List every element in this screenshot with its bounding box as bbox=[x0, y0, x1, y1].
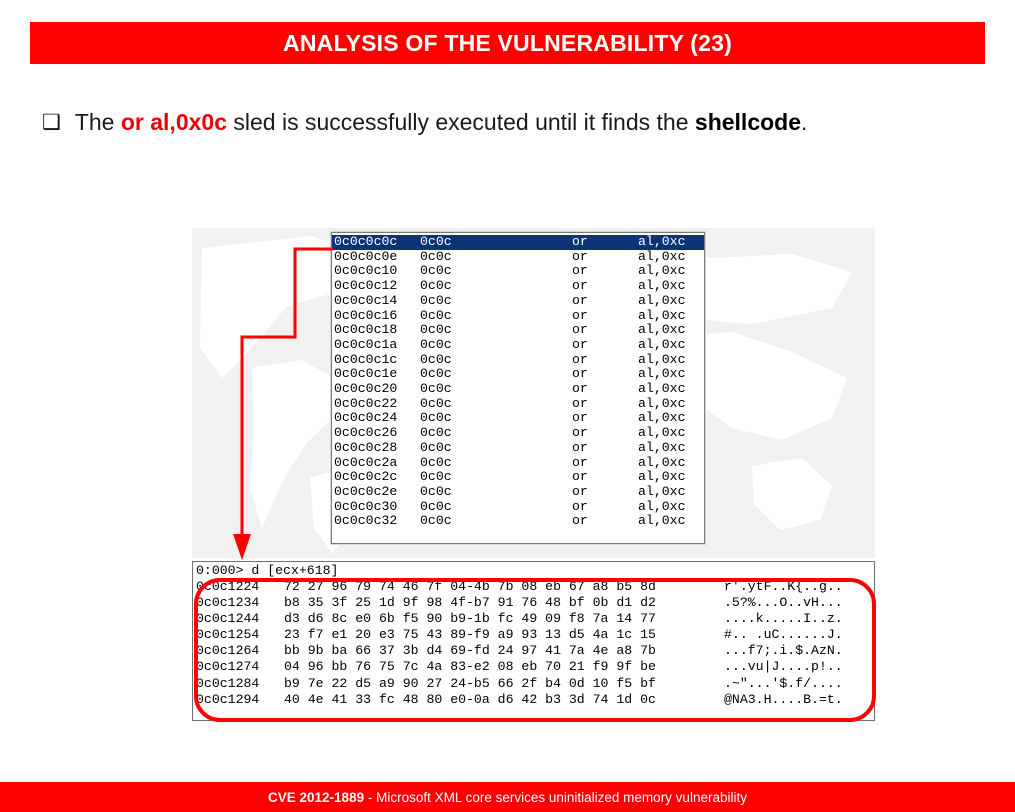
disassembly-mnemonic: or bbox=[572, 470, 638, 485]
disassembly-bytes: 0c0c bbox=[420, 485, 572, 500]
square-bullet-icon: ❑ bbox=[42, 112, 61, 133]
memory-dump-ascii: .~"...'$.f/.... bbox=[724, 676, 874, 692]
disassembly-row[interactable]: 0c0c0c120c0coral,0xc bbox=[332, 279, 704, 294]
disassembly-operands: al,0xc bbox=[638, 323, 700, 338]
disassembly-mnemonic: or bbox=[572, 514, 638, 529]
disassembly-operands: al,0xc bbox=[638, 353, 700, 368]
disassembly-mnemonic: or bbox=[572, 456, 638, 471]
disassembly-bytes: 0c0c bbox=[420, 323, 572, 338]
disassembly-bytes: 0c0c bbox=[420, 397, 572, 412]
memory-dump-bytes: 23 f7 e1 20 e3 75 43 89-f9 a9 93 13 d5 4… bbox=[284, 627, 724, 643]
disassembly-mnemonic: or bbox=[572, 323, 638, 338]
disassembly-operands: al,0xc bbox=[638, 250, 700, 265]
disassembly-row[interactable]: 0c0c0c140c0coral,0xc bbox=[332, 294, 704, 309]
memory-dump-ascii: ...f7;.i.$.AzN. bbox=[724, 643, 874, 659]
memory-dump-ascii: r'.ytF..K{..g.. bbox=[724, 579, 874, 595]
disassembly-bytes: 0c0c bbox=[420, 264, 572, 279]
memory-dump-bytes: d3 d6 8c e0 6b f5 90 b9-1b fc 49 09 f8 7… bbox=[284, 611, 724, 627]
disassembly-address: 0c0c0c10 bbox=[334, 264, 420, 279]
bullet-row: ❑ The or al,0x0c sled is successfully ex… bbox=[42, 108, 972, 137]
disassembly-operands: al,0xc bbox=[638, 367, 700, 382]
footer-cve-id: CVE 2012-1889 bbox=[268, 790, 364, 805]
disassembly-bytes: 0c0c bbox=[420, 411, 572, 426]
memory-dump-address: 0c0c1284 bbox=[196, 676, 284, 692]
memory-dump-bytes: 04 96 bb 76 75 7c 4a 83-e2 08 eb 70 21 f… bbox=[284, 659, 724, 675]
disassembly-mnemonic: or bbox=[572, 367, 638, 382]
bullet-text-before: The bbox=[75, 109, 121, 135]
footer-text: CVE 2012-1889 - Microsoft XML core servi… bbox=[268, 790, 747, 805]
disassembly-bytes: 0c0c bbox=[420, 456, 572, 471]
disassembly-operands: al,0xc bbox=[638, 279, 700, 294]
disassembly-address: 0c0c0c16 bbox=[334, 309, 420, 324]
disassembly-bytes: 0c0c bbox=[420, 235, 572, 250]
disassembly-mnemonic: or bbox=[572, 250, 638, 265]
memory-dump-ascii: ....k.....I..z. bbox=[724, 611, 874, 627]
memory-dump-row: 0c0c1234b8 35 3f 25 1d 9f 98 4f-b7 91 76… bbox=[196, 595, 874, 611]
memory-dump-address: 0c0c1234 bbox=[196, 595, 284, 611]
bullet-text-middle: sled is successfully executed until it f… bbox=[227, 109, 695, 135]
memory-dump-address: 0c0c1244 bbox=[196, 611, 284, 627]
disassembly-operands: al,0xc bbox=[638, 441, 700, 456]
disassembly-mnemonic: or bbox=[572, 426, 638, 441]
disassembly-address: 0c0c0c22 bbox=[334, 397, 420, 412]
disassembly-mnemonic: or bbox=[572, 338, 638, 353]
memory-dump-row: 0c0c1264bb 9b ba 66 37 3b d4 69-fd 24 97… bbox=[196, 643, 874, 659]
memory-dump-bytes: 40 4e 41 33 fc 48 80 e0-0a d6 42 b3 3d 7… bbox=[284, 692, 724, 708]
disassembly-mnemonic: or bbox=[572, 411, 638, 426]
memory-dump-window[interactable]: 0:000> d [ecx+618] 0c0c122472 27 96 79 7… bbox=[192, 561, 875, 721]
disassembly-operands: al,0xc bbox=[638, 309, 700, 324]
disassembly-row[interactable]: 0c0c0c2a0c0coral,0xc bbox=[332, 456, 704, 471]
memory-dump-ascii: #.. .uC......J. bbox=[724, 627, 874, 643]
disassembly-bytes: 0c0c bbox=[420, 441, 572, 456]
disassembly-address: 0c0c0c2c bbox=[334, 470, 420, 485]
disassembly-bytes: 0c0c bbox=[420, 294, 572, 309]
disassembly-bytes: 0c0c bbox=[420, 353, 572, 368]
disassembly-bytes: 0c0c bbox=[420, 500, 572, 515]
disassembly-operands: al,0xc bbox=[638, 294, 700, 309]
disassembly-row[interactable]: 0c0c0c180c0coral,0xc bbox=[332, 323, 704, 338]
slide-title-banner: ANALYSIS OF THE VULNERABILITY (23) bbox=[30, 22, 985, 64]
memory-dump-address: 0c0c1264 bbox=[196, 643, 284, 659]
debugger-command-line[interactable]: 0:000> d [ecx+618] bbox=[196, 563, 874, 579]
disassembly-row[interactable]: 0c0c0c100c0coral,0xc bbox=[332, 264, 704, 279]
disassembly-row[interactable]: 0c0c0c300c0coral,0xc bbox=[332, 500, 704, 515]
disassembly-address: 0c0c0c1c bbox=[334, 353, 420, 368]
disassembly-address: 0c0c0c12 bbox=[334, 279, 420, 294]
memory-dump-address: 0c0c1294 bbox=[196, 692, 284, 708]
memory-dump-bytes: b8 35 3f 25 1d 9f 98 4f-b7 91 76 48 bf 0… bbox=[284, 595, 724, 611]
disassembly-bytes: 0c0c bbox=[420, 367, 572, 382]
disassembly-bytes: 0c0c bbox=[420, 279, 572, 294]
disassembly-row[interactable]: 0c0c0c160c0coral,0xc bbox=[332, 309, 704, 324]
disassembly-row[interactable]: 0c0c0c320c0coral,0xc bbox=[332, 514, 704, 529]
disassembly-row[interactable]: 0c0c0c2c0c0coral,0xc bbox=[332, 470, 704, 485]
disassembly-operands: al,0xc bbox=[638, 338, 700, 353]
disassembly-row[interactable]: 0c0c0c0e0c0coral,0xc bbox=[332, 250, 704, 265]
disassembly-operands: al,0xc bbox=[638, 485, 700, 500]
disassembly-mnemonic: or bbox=[572, 441, 638, 456]
disassembly-address: 0c0c0c2a bbox=[334, 456, 420, 471]
disassembly-address: 0c0c0c26 bbox=[334, 426, 420, 441]
memory-dump-ascii: @NA3.H....B.=t. bbox=[724, 692, 874, 708]
disassembly-address: 0c0c0c1a bbox=[334, 338, 420, 353]
footer-description: Microsoft XML core services uninitialize… bbox=[376, 790, 747, 805]
disassembly-row[interactable]: 0c0c0c200c0coral,0xc bbox=[332, 382, 704, 397]
disassembly-address: 0c0c0c30 bbox=[334, 500, 420, 515]
slide-footer-banner: CVE 2012-1889 - Microsoft XML core servi… bbox=[0, 782, 1015, 812]
disassembly-address: 0c0c0c32 bbox=[334, 514, 420, 529]
disassembly-mnemonic: or bbox=[572, 353, 638, 368]
memory-dump-row: 0c0c129440 4e 41 33 fc 48 80 e0-0a d6 42… bbox=[196, 692, 874, 708]
disassembly-row[interactable]: 0c0c0c1e0c0coral,0xc bbox=[332, 367, 704, 382]
disassembly-operands: al,0xc bbox=[638, 397, 700, 412]
disassembly-row[interactable]: 0c0c0c2e0c0coral,0xc bbox=[332, 485, 704, 500]
disassembly-bytes: 0c0c bbox=[420, 514, 572, 529]
memory-dump-row: 0c0c125423 f7 e1 20 e3 75 43 89-f9 a9 93… bbox=[196, 627, 874, 643]
disassembly-operands: al,0xc bbox=[638, 456, 700, 471]
disassembly-address: 0c0c0c24 bbox=[334, 411, 420, 426]
disassembly-row[interactable]: 0c0c0c1c0c0coral,0xc bbox=[332, 353, 704, 368]
disassembly-mnemonic: or bbox=[572, 382, 638, 397]
disassembly-address: 0c0c0c1e bbox=[334, 367, 420, 382]
disassembly-mnemonic: or bbox=[572, 500, 638, 515]
disassembly-mnemonic: or bbox=[572, 485, 638, 500]
memory-dump-address: 0c0c1224 bbox=[196, 579, 284, 595]
memory-dump-address: 0c0c1274 bbox=[196, 659, 284, 675]
disassembly-operands: al,0xc bbox=[638, 514, 700, 529]
disassembly-operands: al,0xc bbox=[638, 470, 700, 485]
footer-separator: - bbox=[364, 790, 376, 805]
disassembly-mnemonic: or bbox=[572, 397, 638, 412]
disassembly-operands: al,0xc bbox=[638, 500, 700, 515]
memory-dump-row: 0c0c1284b9 7e 22 d5 a9 90 27 24-b5 66 2f… bbox=[196, 676, 874, 692]
memory-dump-address: 0c0c1254 bbox=[196, 627, 284, 643]
disassembly-address: 0c0c0c28 bbox=[334, 441, 420, 456]
disassembly-address: 0c0c0c20 bbox=[334, 382, 420, 397]
debugger-screenshot: 0c0c0c0c0c0coral,0xc0c0c0c0e0c0coral,0xc… bbox=[192, 228, 875, 728]
disassembly-row[interactable]: 0c0c0c0c0c0coral,0xc bbox=[332, 235, 704, 250]
disassembly-bytes: 0c0c bbox=[420, 250, 572, 265]
disassembly-row[interactable]: 0c0c0c1a0c0coral,0xc bbox=[332, 338, 704, 353]
memory-dump-row: 0c0c122472 27 96 79 74 46 7f 04-4b 7b 08… bbox=[196, 579, 874, 595]
page-title: ANALYSIS OF THE VULNERABILITY (23) bbox=[283, 30, 732, 57]
disassembly-window[interactable]: 0c0c0c0c0c0coral,0xc0c0c0c0e0c0coral,0xc… bbox=[331, 232, 705, 544]
bullet-strong: shellcode bbox=[695, 109, 801, 135]
bullet-text-after: . bbox=[801, 109, 807, 135]
disassembly-address: 0c0c0c18 bbox=[334, 323, 420, 338]
disassembly-mnemonic: or bbox=[572, 264, 638, 279]
disassembly-bytes: 0c0c bbox=[420, 382, 572, 397]
disassembly-address: 0c0c0c0c bbox=[334, 235, 420, 250]
disassembly-bytes: 0c0c bbox=[420, 426, 572, 441]
bullet-keyword: or al,0x0c bbox=[121, 109, 227, 135]
memory-dump-ascii: ...vu|J....p!.. bbox=[724, 659, 874, 675]
disassembly-mnemonic: or bbox=[572, 235, 638, 250]
memory-dump-ascii: .5?%...O..vH... bbox=[724, 595, 874, 611]
memory-dump-bytes: bb 9b ba 66 37 3b d4 69-fd 24 97 41 7a 4… bbox=[284, 643, 724, 659]
disassembly-operands: al,0xc bbox=[638, 264, 700, 279]
bullet-text: The or al,0x0c sled is successfully exec… bbox=[75, 108, 808, 137]
disassembly-mnemonic: or bbox=[572, 294, 638, 309]
disassembly-operands: al,0xc bbox=[638, 382, 700, 397]
disassembly-row-list[interactable]: 0c0c0c0c0c0coral,0xc0c0c0c0e0c0coral,0xc… bbox=[332, 235, 704, 529]
disassembly-operands: al,0xc bbox=[638, 426, 700, 441]
memory-dump-row: 0c0c1244d3 d6 8c e0 6b f5 90 b9-1b fc 49… bbox=[196, 611, 874, 627]
disassembly-operands: al,0xc bbox=[638, 411, 700, 426]
disassembly-address: 0c0c0c0e bbox=[334, 250, 420, 265]
disassembly-operands: al,0xc bbox=[638, 235, 700, 250]
disassembly-address: 0c0c0c14 bbox=[334, 294, 420, 309]
memory-dump-bytes: 72 27 96 79 74 46 7f 04-4b 7b 08 eb 67 a… bbox=[284, 579, 724, 595]
disassembly-bytes: 0c0c bbox=[420, 309, 572, 324]
memory-dump-bytes: b9 7e 22 d5 a9 90 27 24-b5 66 2f b4 0d 1… bbox=[284, 676, 724, 692]
disassembly-row[interactable]: 0c0c0c220c0coral,0xc bbox=[332, 397, 704, 412]
disassembly-row[interactable]: 0c0c0c280c0coral,0xc bbox=[332, 441, 704, 456]
disassembly-row[interactable]: 0c0c0c240c0coral,0xc bbox=[332, 411, 704, 426]
disassembly-bytes: 0c0c bbox=[420, 470, 572, 485]
memory-dump-row: 0c0c127404 96 bb 76 75 7c 4a 83-e2 08 eb… bbox=[196, 659, 874, 675]
disassembly-mnemonic: or bbox=[572, 309, 638, 324]
disassembly-mnemonic: or bbox=[572, 279, 638, 294]
disassembly-row[interactable]: 0c0c0c260c0coral,0xc bbox=[332, 426, 704, 441]
disassembly-address: 0c0c0c2e bbox=[334, 485, 420, 500]
memory-dump-row-list: 0c0c122472 27 96 79 74 46 7f 04-4b 7b 08… bbox=[196, 579, 874, 708]
disassembly-bytes: 0c0c bbox=[420, 338, 572, 353]
